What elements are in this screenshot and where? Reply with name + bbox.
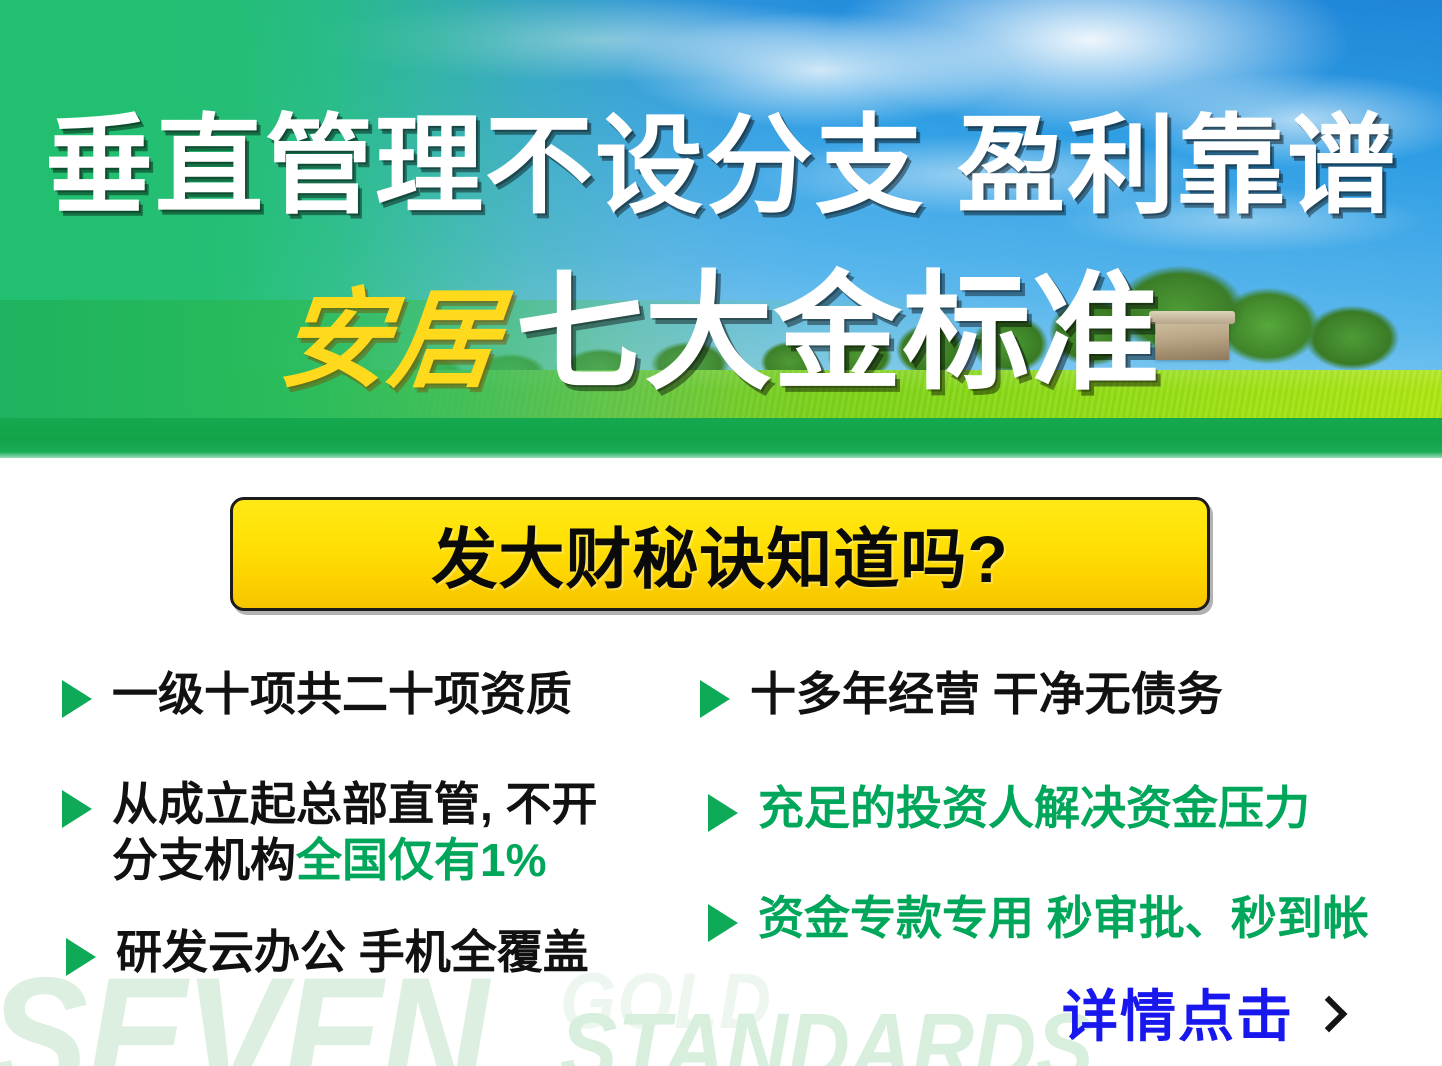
triangle-right-icon <box>66 938 96 976</box>
feature-text: 充足的投资人解决资金压力 <box>758 780 1310 836</box>
feature-text: 从成立起总部直管, 不开 分支机构全国仅有1% <box>112 776 598 888</box>
list-item: 充足的投资人解决资金压力 <box>708 780 1310 836</box>
list-item: 资金专款专用 秒审批、秒到帐 <box>708 890 1369 946</box>
list-item: 研发云办公 手机全覆盖 <box>66 924 589 980</box>
hero-headline-slogan: 七大金标准 <box>516 262 1161 405</box>
headline-question-banner[interactable]: 发大财秘诀知道吗? <box>230 497 1210 611</box>
feature-text: 资金专款专用 秒审批、秒到帐 <box>758 890 1369 946</box>
feature-list: 一级十项共二十项资质 从成立起总部直管, 不开 分支机构全国仅有1% 研发云办公… <box>0 648 1442 988</box>
ad-banner-page: 垂直管理不设分支 盈利靠谱 安居七大金标准 SEVEN GOLD STANDAR… <box>0 0 1442 1066</box>
headline-question-text: 发大财秘诀知道吗? <box>431 506 1008 602</box>
hero-banner: 垂直管理不设分支 盈利靠谱 安居七大金标准 <box>0 0 1442 458</box>
triangle-right-icon <box>708 794 738 832</box>
feature-text-line2: 分支机构全国仅有1% <box>112 832 598 888</box>
detail-link-label: 详情点击 <box>1062 972 1294 1053</box>
list-item: 十多年经营 干净无债务 <box>700 666 1223 722</box>
triangle-right-icon <box>62 680 92 718</box>
triangle-right-icon <box>62 790 92 828</box>
hero-headline-secondary: 安居七大金标准 <box>0 270 1442 398</box>
triangle-right-icon <box>700 680 730 718</box>
feature-text: 十多年经营 干净无债务 <box>750 666 1223 722</box>
feature-text-line2-plain: 分支机构 <box>112 834 296 886</box>
triangle-right-icon <box>708 904 738 942</box>
list-item: 一级十项共二十项资质 <box>62 666 572 722</box>
hero-headline-brand: 安居 <box>276 286 505 394</box>
feature-text: 研发云办公 手机全覆盖 <box>116 924 589 980</box>
detail-link[interactable]: 详情点击 <box>1062 972 1342 1053</box>
feature-text-line1: 从成立起总部直管, 不开 <box>112 778 598 830</box>
hero-bottom-green-strip <box>0 418 1442 458</box>
list-item: 从成立起总部直管, 不开 分支机构全国仅有1% <box>62 776 598 888</box>
chevron-right-icon <box>1311 995 1348 1032</box>
feature-text: 一级十项共二十项资质 <box>112 666 572 722</box>
hero-headline-primary: 垂直管理不设分支 盈利靠谱 <box>0 112 1442 220</box>
watermark-standards: STANDARDS <box>560 1000 1094 1066</box>
feature-text-highlight: 全国仅有1% <box>296 834 546 886</box>
